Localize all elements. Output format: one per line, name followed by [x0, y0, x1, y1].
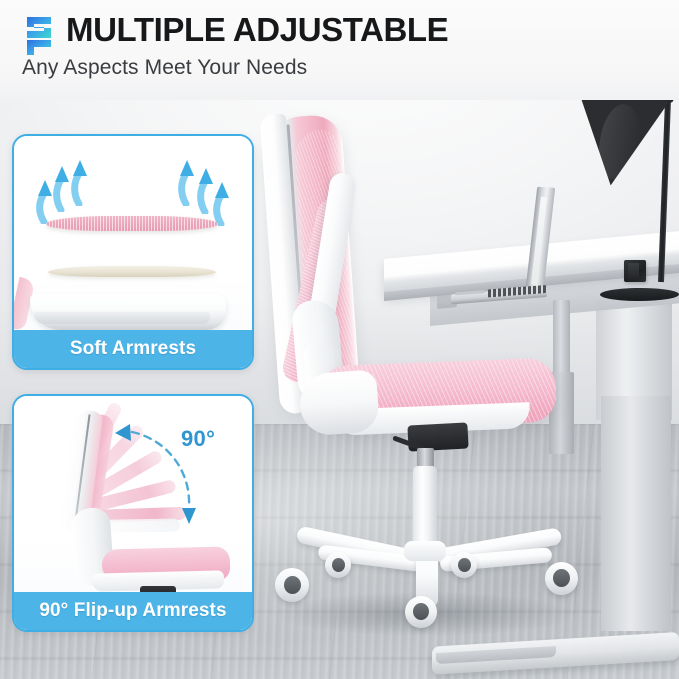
- page-subtitle: Any Aspects Meet Your Needs: [22, 56, 307, 80]
- armrest-layer-foam: [48, 266, 216, 277]
- feature-panel-artwork: 90°: [14, 396, 252, 592]
- feature-panel-flip-up-armrests: 90° 90° Flip-up Armrests: [12, 394, 254, 632]
- page-title: MULTIPLE ADJUSTABLE: [66, 11, 448, 49]
- desk-leg-far-lower: [601, 396, 671, 631]
- chair-caster-wheel: [413, 603, 429, 620]
- lamp-shade: [575, 94, 672, 189]
- chair-caster-wheel: [284, 576, 301, 594]
- chair-seat-front: [298, 369, 380, 436]
- small-black-box-face: [628, 263, 639, 279]
- header: MULTIPLE ADJUSTABLE Any Aspects Meet You…: [0, 0, 679, 100]
- stylized-s-logo-icon: [22, 14, 54, 58]
- product-feature-image: MULTIPLE ADJUSTABLE Any Aspects Meet You…: [0, 0, 679, 679]
- airflow-arrow-icon: [68, 156, 94, 211]
- feature-label-flip-up-armrests: 90° Flip-up Armrests: [14, 592, 252, 630]
- chair-caster-wheel: [553, 569, 570, 587]
- chair-caster-wheel: [458, 558, 471, 572]
- chair-caster-wheel: [332, 558, 345, 572]
- chair-base-hub: [404, 541, 446, 561]
- feature-panel-artwork: [14, 136, 252, 330]
- feature-label-soft-armrests: Soft Armrests: [14, 330, 252, 368]
- armrest-mesh-texture: [46, 216, 218, 231]
- rotation-arc-icon: [14, 396, 252, 592]
- armrest-base-lip: [34, 312, 210, 324]
- feature-panel-soft-armrests: Soft Armrests: [12, 134, 254, 370]
- chair-gas-cylinder: [413, 466, 437, 551]
- lamp-base: [599, 288, 679, 301]
- angle-label: 90°: [181, 426, 215, 452]
